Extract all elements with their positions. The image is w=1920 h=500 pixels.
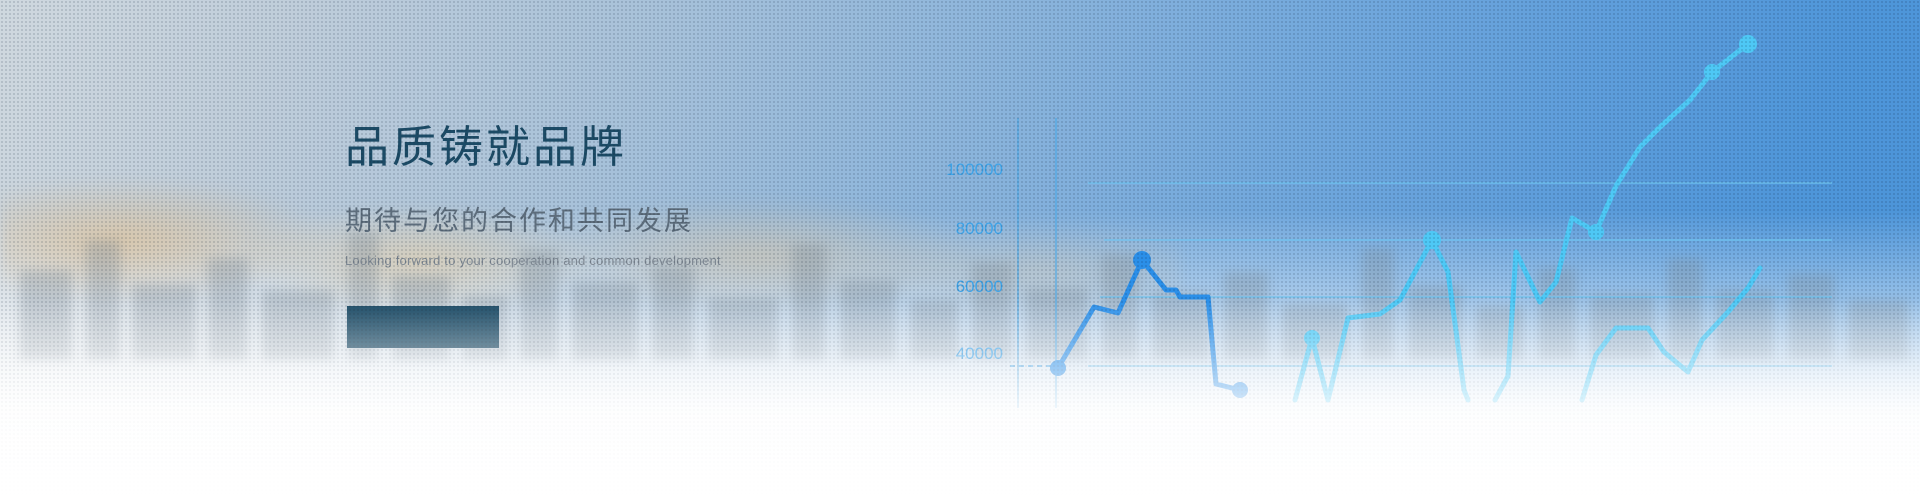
bottom-white-fade [0, 300, 1920, 500]
hero-banner: 100000 80000 60000 40000 品质铸就品牌 期待与您的合作和… [0, 0, 1920, 500]
